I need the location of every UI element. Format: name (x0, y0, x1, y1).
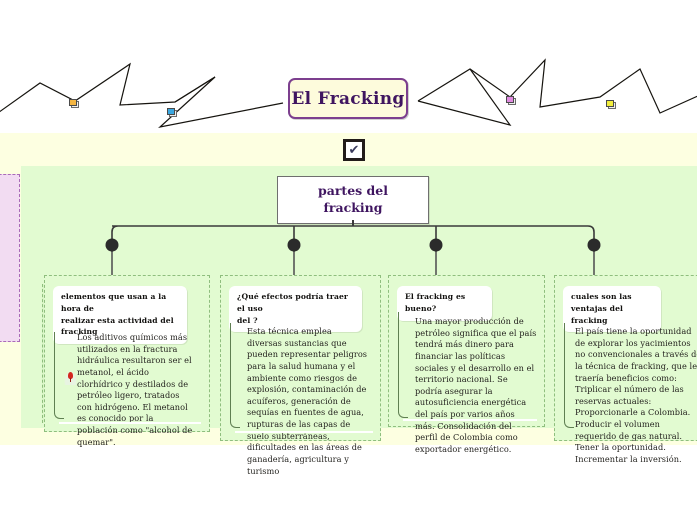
map-title-text: El Fracking (291, 89, 404, 109)
branch-2-underline (235, 431, 373, 433)
zigzag-right-path (418, 60, 697, 113)
zigzag-left-path (0, 64, 215, 115)
branch-card-3[interactable]: El fracking es bueno? Una mayor producci… (388, 275, 545, 427)
branch-1-underline (59, 422, 201, 424)
branch-card-2[interactable]: ¿Qué efectos podría traer el uso del ? E… (220, 275, 381, 441)
zigzag-left-path-b (160, 77, 283, 127)
branch-2-header-line-1: ¿Qué efectos podría traer el uso (237, 291, 354, 315)
map-title-node[interactable]: El Fracking (288, 78, 408, 119)
branch-3-body: Una mayor producción de petróleo signifi… (415, 316, 537, 456)
zigzag-right-path-b (418, 69, 510, 125)
branch-3-bracket (398, 312, 408, 418)
branch-1-body: Los aditivos químicos más utilizados en … (77, 332, 195, 448)
mindmap-canvas: El Fracking ✔ partes delfracking element… (0, 0, 697, 520)
chip-pink-icon (506, 96, 517, 106)
chip-blue-icon (167, 108, 178, 118)
branch-4-header-line-1: cuales son las (571, 291, 653, 303)
branch-card-4[interactable]: cuales son las ventajas del fracking El … (554, 275, 697, 441)
root-node-label: partes delfracking (318, 183, 388, 217)
branch-1-bracket (54, 332, 64, 419)
branch-dot-2 (288, 239, 301, 252)
chip-orange-icon (69, 99, 80, 109)
check-icon[interactable]: ✔ (343, 139, 365, 161)
branch-4-bracket (564, 323, 574, 428)
root-node[interactable]: partes delfracking (277, 176, 429, 224)
branch-3-header-line-1: El fracking es bueno? (405, 291, 484, 315)
check-glyph: ✔ (349, 144, 360, 157)
branch-dot-1 (106, 239, 119, 252)
branch-2-bracket (230, 323, 240, 428)
branch-1-header-line-2: realizar esta actividad del (61, 315, 179, 327)
pin-marker-icon (64, 371, 77, 385)
branch-4-header-line-2: ventajas del fracking (571, 303, 653, 327)
chip-yellow-icon (606, 100, 617, 110)
branch-dot-4 (588, 239, 601, 252)
branch-card-1[interactable]: elementos que usan a la hora de realizar… (44, 275, 210, 432)
branch-1-header-line-1: elementos que usan a la hora de (61, 291, 179, 315)
branch-dot-3 (430, 239, 443, 252)
branch-2-header-line-2: del ? (237, 315, 354, 327)
branch-4-body: El país tiene la oportunidad de explorar… (575, 326, 697, 466)
branch-2-body: Esta técnica emplea diversas sustancias … (247, 326, 369, 477)
branch-3-underline (403, 419, 537, 421)
